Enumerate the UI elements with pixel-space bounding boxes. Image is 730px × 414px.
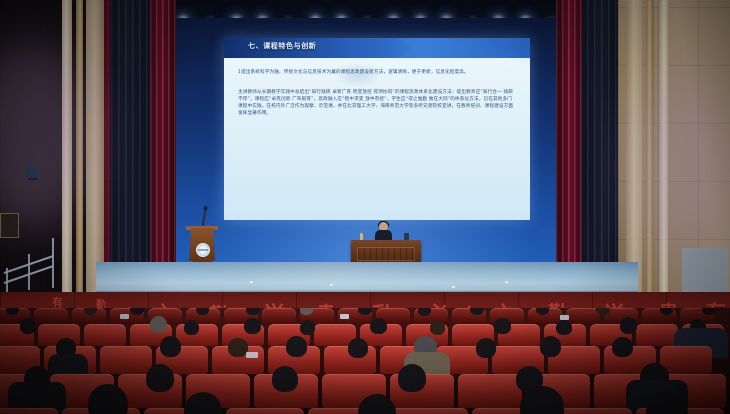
wall-panel [0, 213, 19, 238]
audience-head [146, 364, 174, 392]
railing-post [52, 238, 54, 288]
curtain-red-left [150, 0, 176, 272]
laptop-icon [120, 314, 129, 319]
railing-post [682, 248, 728, 292]
audience-head [620, 317, 637, 334]
audience-head [494, 318, 511, 334]
seat [84, 324, 126, 346]
wall-speaker-icon [26, 165, 37, 178]
seat [566, 308, 600, 324]
seat [390, 408, 468, 414]
audience-head [348, 338, 368, 358]
auditorium-photo: 七、课程特色与创新 1提出系统科学为轴、传统文化与信息技术为翼的课程思政建设新方… [0, 0, 730, 414]
seat [636, 324, 678, 346]
audience-head [228, 338, 248, 357]
floor-highlight [505, 281, 508, 283]
stage-floor [96, 262, 638, 292]
audience-head [300, 320, 315, 335]
audience-head [612, 337, 633, 357]
seat [226, 408, 304, 414]
audience-head [398, 364, 426, 392]
seat [34, 308, 68, 324]
audience-head [430, 320, 445, 335]
floor-highlight [452, 286, 455, 288]
audience-head [370, 318, 387, 334]
cup-icon [404, 233, 409, 240]
audience-head [184, 320, 199, 335]
slide-header-bar: 七、课程特色与创新 [224, 38, 530, 58]
seat [100, 346, 152, 374]
laptop-icon [246, 352, 258, 358]
audience-head [476, 338, 496, 358]
seat [660, 346, 712, 374]
audience-head [160, 336, 181, 357]
audience-head [286, 336, 307, 357]
slide-paragraph-1: 1提出系统科学为轴、传统文化与信息技术为翼的课程思政建设新方法，逻辑清晰，便于更… [238, 70, 516, 77]
seat [458, 374, 522, 408]
curtain-red-right [556, 0, 582, 272]
audience-head [418, 308, 431, 316]
floor-highlight [330, 284, 333, 286]
slide-body: 1提出系统科学为轴、传统文化与信息技术为翼的课程思政建设新方法，逻辑清晰，便于更… [224, 58, 530, 220]
audience-head [556, 320, 572, 335]
floor-highlight [250, 281, 253, 283]
stair-railing-left [2, 238, 60, 290]
audience-head [20, 318, 36, 334]
audience-head [244, 318, 261, 334]
slide-title: 七、课程特色与创新 [248, 41, 316, 51]
audience-head [272, 366, 298, 392]
slide-paragraph-2: 主讲教师从长期教学实践中总结出“知行践研 卓新广育 稳变放控 得项协同”的课程思… [238, 90, 516, 118]
audience-head [150, 316, 167, 333]
laptop-icon [340, 314, 349, 319]
stair-railing-right [682, 248, 728, 292]
lectern-emblem-icon [196, 243, 210, 257]
projection-screen: 七、课程特色与创新 1提出系统科学为轴、传统文化与信息技术为翼的课程思政建设新方… [224, 38, 530, 220]
seat [262, 308, 296, 324]
audience-seating [0, 308, 730, 414]
seat [0, 408, 58, 414]
audience-head [540, 336, 561, 357]
seat [554, 408, 632, 414]
